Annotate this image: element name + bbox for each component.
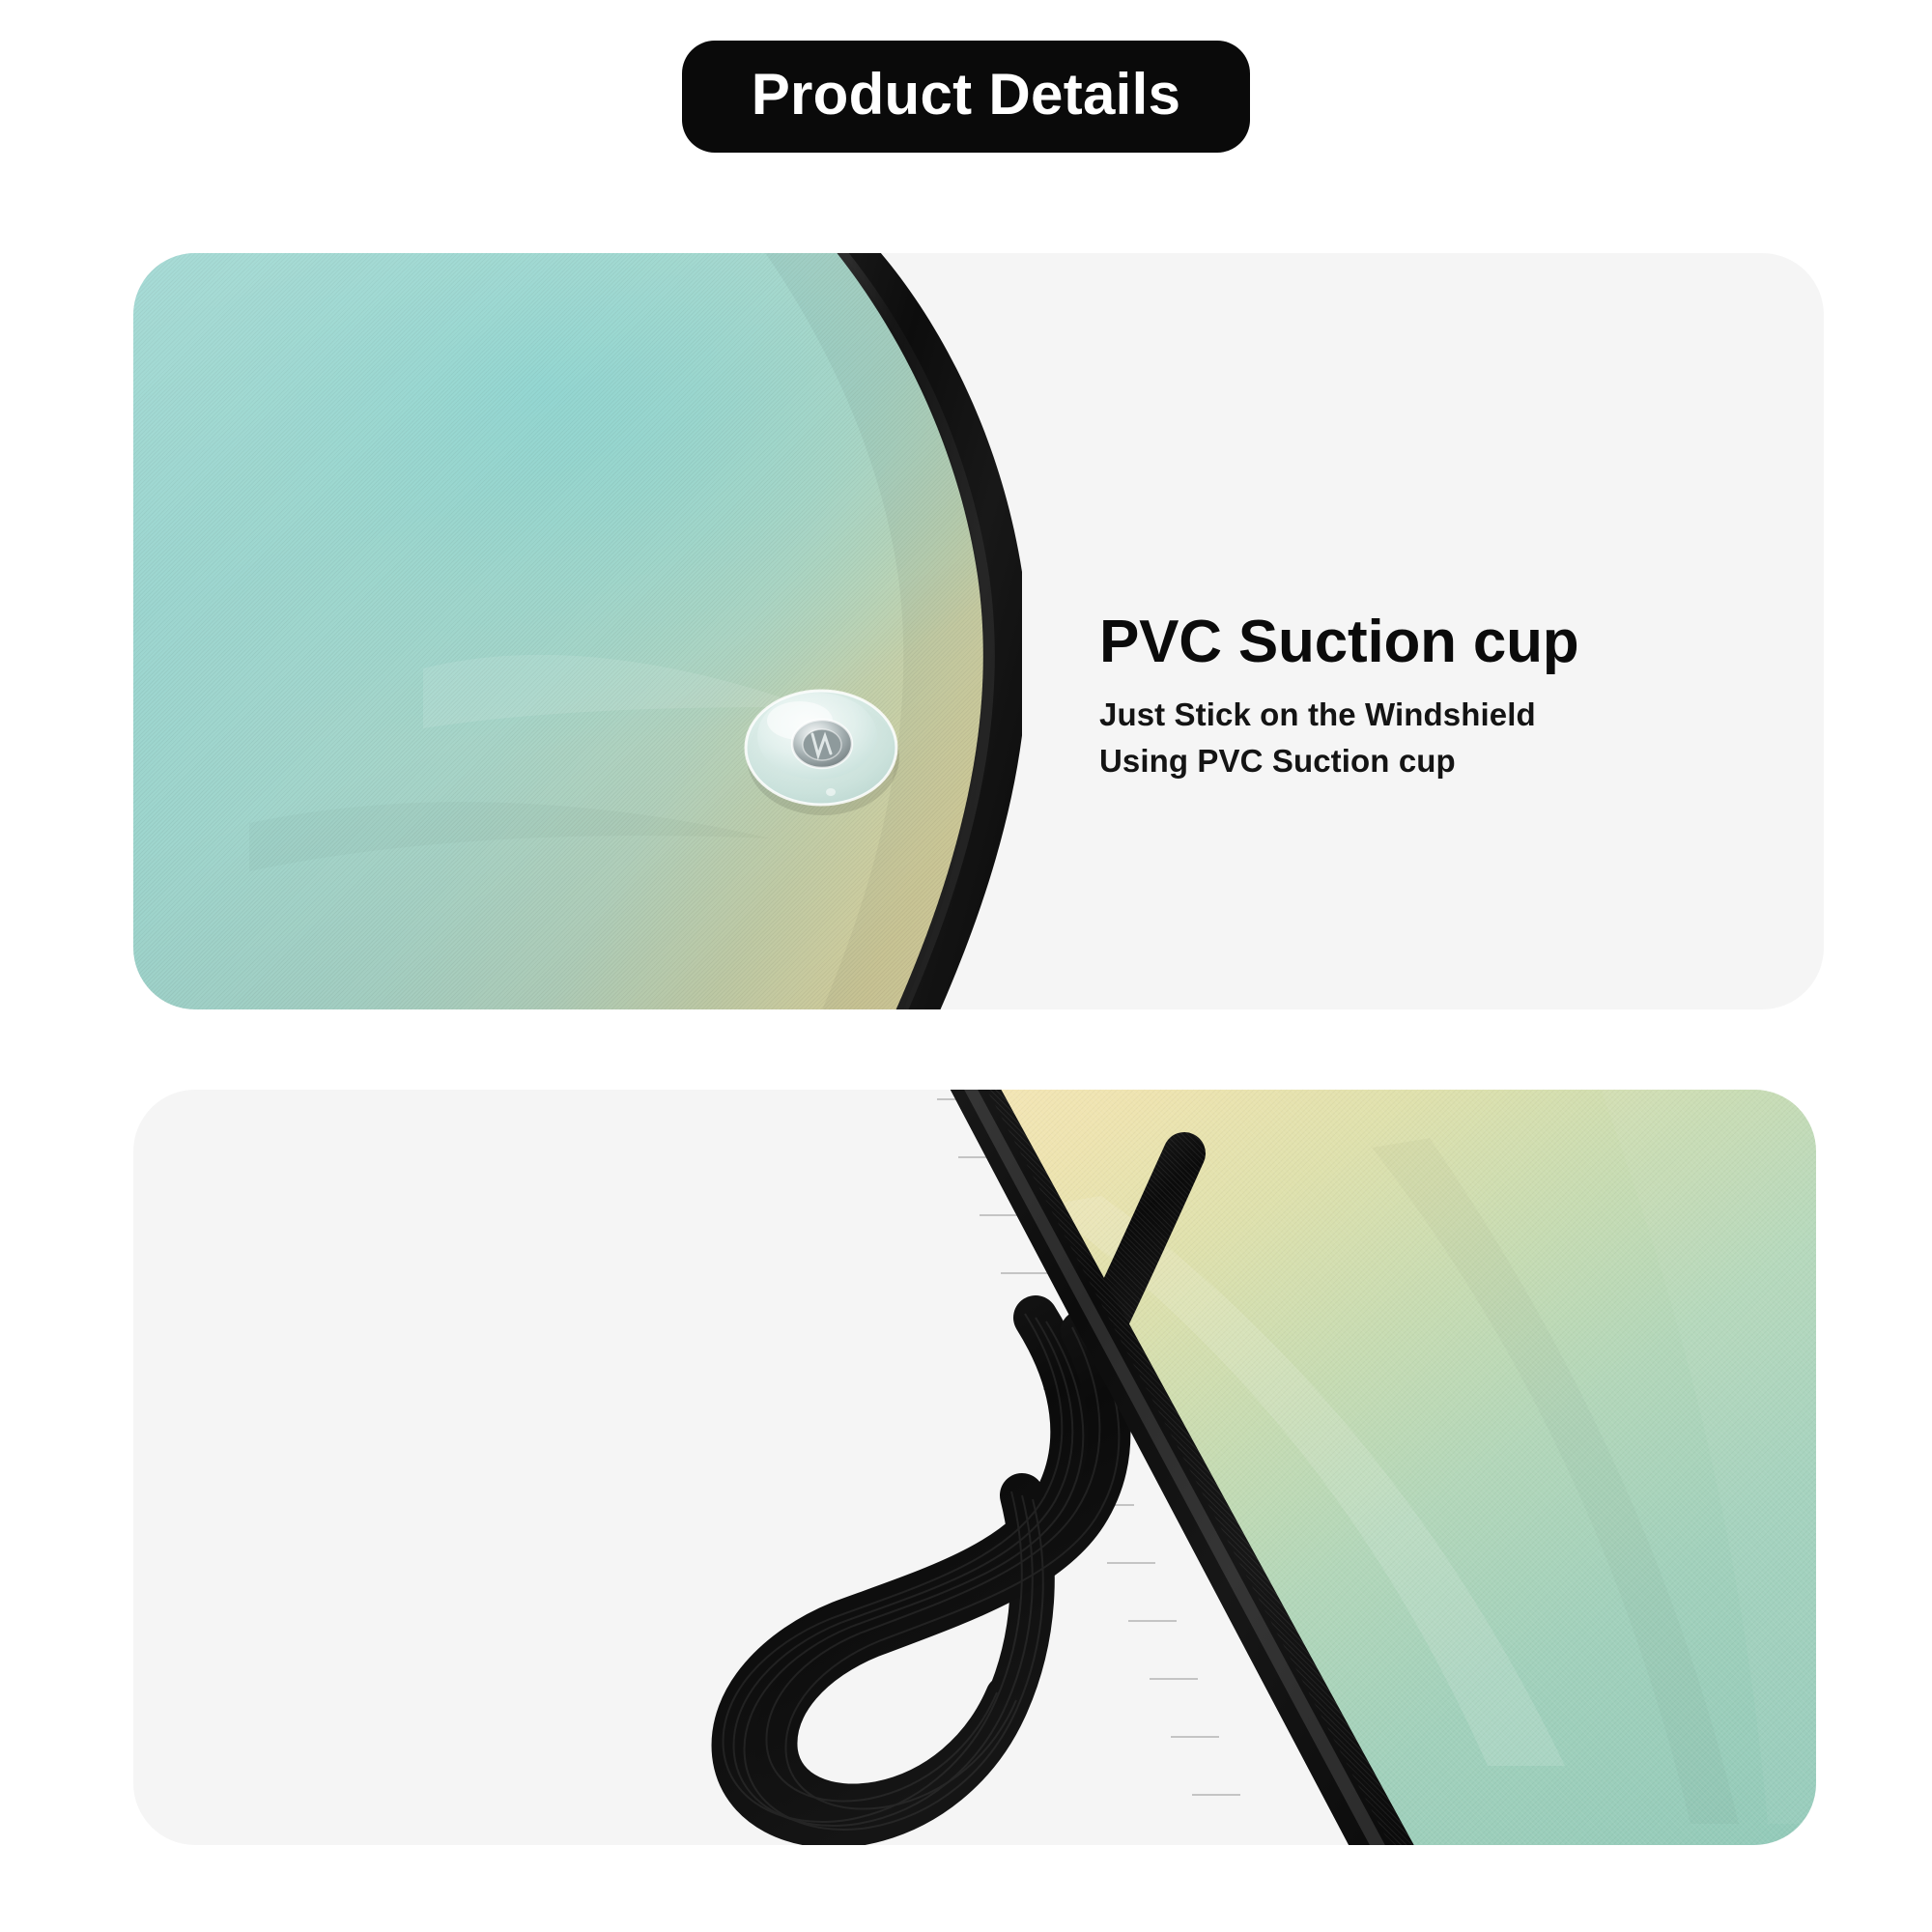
fabric-fold-highlight — [423, 655, 810, 728]
feature-card-pvc-suction-cup: PVC Suction cup Just Stick on the Windsh… — [133, 253, 1824, 1009]
product-details-badge-label: Product Details — [752, 66, 1181, 124]
feature-card-storage-strap: Storage Strap Foldable, Fast and Easy to… — [133, 1090, 1816, 1845]
pvc-suction-cup-photo-overlay — [133, 253, 1022, 1009]
pvc-suction-cup-subtitle-line-2: Using PVC Suction cup — [1099, 738, 1766, 784]
page-header: Product Details — [0, 0, 1932, 193]
storage-strap-photo — [696, 1090, 1816, 1845]
pvc-suction-cup-subtitle-line-1: Just Stick on the Windshield — [1099, 692, 1766, 738]
product-details-badge: Product Details — [682, 41, 1251, 153]
pvc-suction-cup-text-block: PVC Suction cup Just Stick on the Windsh… — [1099, 611, 1766, 784]
suction-cup-lower-glint — [826, 788, 836, 796]
pvc-suction-cup-title: PVC Suction cup — [1099, 611, 1766, 674]
fabric-fold-shadow — [249, 802, 771, 871]
pvc-suction-cup-graphic — [746, 691, 899, 815]
pvc-suction-cup-photo — [133, 253, 1022, 1009]
